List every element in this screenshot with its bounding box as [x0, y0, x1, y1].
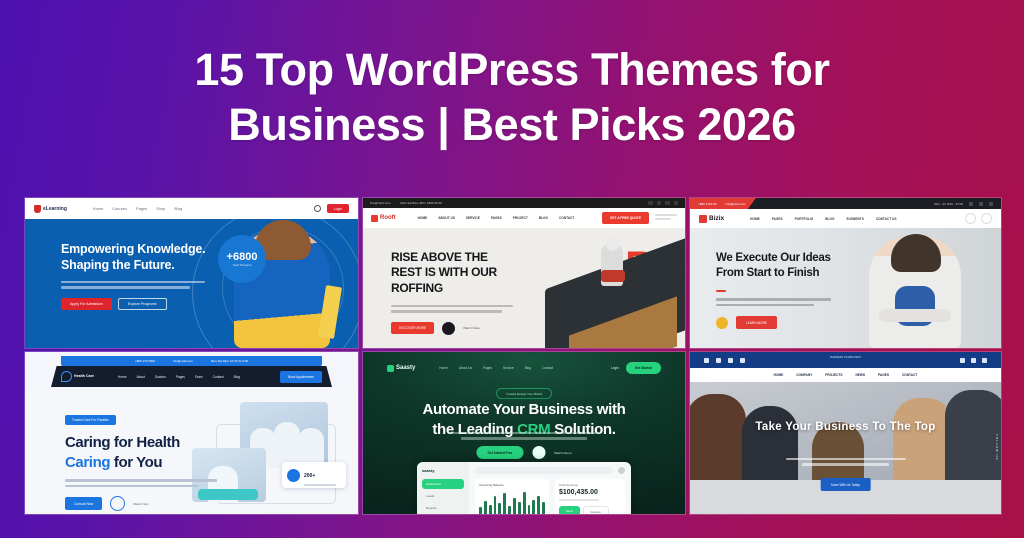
rooft-topbar: info@rooft.com Mon-Sat 8Am-6Pm 1800 00 0…	[363, 198, 685, 208]
elearning-logo[interactable]: eLearning	[34, 205, 67, 213]
healthcare-phone[interactable]: +880 170 0000	[135, 359, 155, 363]
search-icon[interactable]	[314, 205, 321, 212]
chart-bars	[479, 490, 545, 514]
facebook-icon[interactable]	[648, 201, 653, 206]
explore-button[interactable]: Explore Programs	[118, 298, 167, 310]
nav-item-home[interactable]: Home	[439, 366, 448, 370]
corporate-headline: Take Your Business To The Top	[690, 420, 1001, 435]
worker-toolbelt-shape	[601, 270, 625, 282]
headline-accent: Caring	[65, 454, 110, 471]
nav-item-pages[interactable]: PAGES	[772, 217, 783, 221]
bizix-logo[interactable]: Bizix	[699, 215, 724, 223]
healthcare-topbar: +880 170 0000 info@mail.com Mon-Sat 8Am …	[61, 356, 322, 366]
saasty-dashboard-preview[interactable]: saasty Dashboard Leads Reports Operating…	[417, 462, 631, 514]
saasty-badge: Trusted Design Your Brand	[496, 388, 552, 399]
menu-icon[interactable]	[981, 213, 992, 224]
login-button[interactable]: Login	[327, 204, 349, 213]
saasty-logo-text: Saasty	[396, 365, 415, 371]
bizix-nav[interactable]: HOME PAGES PORTFOLIO BLOG ELEMENTS CONTA…	[750, 217, 896, 221]
dashboard-logo: saasty	[422, 468, 464, 473]
corporate-brand-sub: BUSINESS CONSULTANT	[830, 356, 861, 359]
avatar[interactable]	[618, 467, 625, 474]
apply-button[interactable]: Apply For Admission	[61, 298, 112, 310]
accent-bar	[716, 290, 726, 293]
healthcare-subtext	[65, 479, 225, 487]
elearning-hero-text: Empowering Knowledge. Shaping the Future…	[61, 241, 211, 310]
nav-item-contact[interactable]: CONTACT US	[876, 217, 897, 221]
bizix-topbar-right: Mon - Fri 8:00 - 17:00	[934, 202, 993, 206]
poster-title: 15 Top WordPress Themes for Business | B…	[0, 22, 1024, 174]
elearning-hero: +6800 Total Students Empowering Knowledg…	[25, 219, 358, 348]
headline-line-1: Automate Your Business with	[422, 401, 625, 418]
bizix-logo-text: Bizix	[709, 215, 724, 222]
headline-line-1: Caring for Health	[65, 434, 180, 451]
phone-block	[655, 214, 677, 222]
nav-item-home[interactable]: HOME	[418, 216, 428, 220]
bizix-hero-text: We Execute Our Ideas From Start to Finis…	[716, 251, 836, 329]
rooft-hero: Roo RISE ABOVE THE REST IS WITH OUR ROFF…	[363, 228, 685, 348]
healthcare-hero: 200+ Trusted Care For Families Caring fo…	[25, 390, 358, 514]
nav-item-blog[interactable]: BLOG	[539, 216, 548, 220]
elearning-cta-row[interactable]: Apply For Admission Explore Programs	[61, 298, 211, 310]
theme-thumbnail-bizix[interactable]: +880 1700 00 info@bizix.com Mon - Fri 8:…	[690, 198, 1001, 348]
cart-icon[interactable]	[971, 358, 976, 363]
nav-item-pages[interactable]: PAGES	[491, 216, 502, 220]
dashboard-sidebar[interactable]: saasty Dashboard Leads Reports	[417, 462, 469, 514]
twitter-icon[interactable]	[657, 201, 662, 206]
rooft-logo[interactable]: Rooft	[371, 215, 396, 222]
doctors-stat-card: 200+	[282, 462, 346, 488]
corporate-subtext	[786, 458, 906, 469]
rooft-hero-text: RISE ABOVE THE REST IS WITH OUR ROFFING …	[391, 250, 517, 335]
healthcare-headline: Caring for Health Caring for You	[65, 433, 225, 472]
nav-item-blog[interactable]: Blog	[175, 207, 183, 211]
nav-item-contact[interactable]: CONTACT	[902, 373, 917, 377]
businesswoman-arms-shape	[879, 309, 951, 322]
nav-item-pages[interactable]: Pages	[136, 207, 147, 211]
facebook-icon[interactable]	[704, 358, 709, 363]
quote-button[interactable]: GET A FREE QUOTE	[602, 212, 649, 224]
badge-icon	[716, 317, 728, 329]
saasty-cta-row[interactable]: Get Started Free Watch Demo	[476, 446, 571, 459]
dashboard-topbar[interactable]	[475, 467, 625, 474]
nav-item-service[interactable]: SERVICE	[466, 216, 480, 220]
corporate-hero: Take Your Business To The Top More With …	[690, 382, 1001, 514]
corporate-topbar: BUSINESS CONSULTANT	[690, 352, 1001, 368]
saasty-nav-right[interactable]: Login Get Started	[611, 362, 661, 374]
healthcare-pill-badge: Trusted Care For Families	[65, 415, 116, 425]
nav-item-home[interactable]: Home	[118, 375, 127, 379]
bizix-headline: We Execute Our Ideas From Start to Finis…	[716, 251, 836, 281]
elearning-nav-right[interactable]: Login	[314, 204, 349, 213]
rooft-navbar[interactable]: Rooft HOME ABOUT US SERVICE PAGES PROJEC…	[363, 208, 685, 228]
dashboard-chart: Operating Balance	[475, 479, 549, 514]
doctor-avatar	[287, 469, 300, 482]
theme-thumbnail-healthcare[interactable]: +880 170 0000 info@mail.com Mon-Sat 8Am …	[25, 352, 358, 514]
dashboard-main: Operating Balance Total Earnings	[469, 462, 631, 514]
rooft-nav-right[interactable]: GET A FREE QUOTE	[602, 212, 677, 224]
social-icons[interactable]	[704, 358, 745, 363]
nav-item-portfolio[interactable]: PORTFOLIO	[795, 217, 814, 221]
students-badge-label: Total Students	[232, 263, 251, 267]
pulse-icon	[61, 371, 72, 382]
get-started-button[interactable]: Get Started	[626, 362, 661, 374]
more-with-us-button[interactable]: More With Us Today	[820, 478, 871, 491]
bizix-topbar-left: +880 1700 00 info@bizix.com	[690, 198, 756, 209]
nav-item-pages[interactable]: Pages	[483, 366, 492, 370]
theme-thumbnail-saasty[interactable]: Saasty Home About Us Pages Service Blog …	[363, 352, 685, 514]
theme-thumbnail-rooft[interactable]: info@rooft.com Mon-Sat 8Am-6Pm 1800 00 0…	[363, 198, 685, 348]
students-badge-value: +6800	[227, 251, 258, 263]
healthcare-nav[interactable]: Home About Doctors Pages Team Contact Bl…	[118, 375, 240, 379]
twitter-icon[interactable]	[979, 202, 983, 206]
nav-item-project[interactable]: PROJECT	[513, 216, 528, 220]
watch-demo-label[interactable]: Watch Demo	[554, 451, 571, 455]
shield-icon	[34, 205, 41, 213]
bizix-hero: We Execute Our Ideas From Start to Finis…	[690, 228, 1001, 348]
worker-helmet-shape	[606, 238, 619, 251]
send-button[interactable]: Send	[559, 506, 580, 514]
dashboard-body: Operating Balance Total Earnings	[475, 479, 625, 514]
rooft-headline: RISE ABOVE THE REST IS WITH OUR ROFFING	[391, 250, 517, 296]
play-icon[interactable]	[110, 496, 125, 511]
rooft-subtext	[391, 305, 517, 313]
play-icon[interactable]	[442, 322, 455, 335]
nav-item-team[interactable]: Team	[195, 375, 203, 379]
consult-button[interactable]: Consult Now	[65, 497, 102, 510]
nav-item-contact[interactable]: CONTACT	[559, 216, 574, 220]
nav-item-home[interactable]: Home	[93, 207, 103, 211]
healthcare-hours: Mon-Sat 8Am 10:00 To 6:00	[211, 359, 248, 363]
elearning-subtext	[61, 281, 211, 289]
saasty-subtext	[449, 432, 599, 443]
nav-item-shop[interactable]: Shop	[156, 207, 165, 211]
nav-item-blog[interactable]: Blog	[234, 375, 240, 379]
bizix-cta-row[interactable]: LEARN MORE	[716, 316, 836, 329]
nav-item-company[interactable]: COMPANY	[796, 373, 812, 377]
healthcare-logo[interactable]: Health Care	[61, 371, 94, 382]
sidebar-item-reports[interactable]: Reports	[422, 503, 464, 513]
saasty-mark-icon	[387, 365, 394, 372]
rooft-email[interactable]: info@rooft.com	[370, 201, 390, 205]
nav-item-doctors[interactable]: Doctors	[155, 375, 166, 379]
linkedin-icon[interactable]	[674, 201, 679, 206]
chart-title: Operating Balance	[479, 483, 545, 487]
corporate-logo[interactable]: BUSINESS CONSULTANT	[830, 355, 861, 359]
watch-video-label[interactable]: Watch Video	[463, 326, 480, 330]
earnings-card-note	[559, 499, 599, 501]
elearning-nav[interactable]: Home Courses Pages Shop Blog	[93, 207, 183, 211]
instagram-icon[interactable]	[728, 358, 733, 363]
theme-thumbnail-grid: eLearning Home Courses Pages Shop Blog L…	[25, 198, 999, 514]
bizix-phone[interactable]: +880 1700 00	[698, 202, 716, 206]
healthcare-logo-text: Health Care	[74, 375, 94, 379]
elearning-navbar[interactable]: eLearning Home Courses Pages Shop Blog L…	[25, 198, 358, 219]
bizix-mark-icon	[699, 215, 707, 223]
healthcare-cta-row[interactable]: Consult Now Watch Now	[65, 496, 225, 511]
nav-item-about[interactable]: About Us	[459, 366, 472, 370]
nav-item-courses[interactable]: Courses	[112, 207, 127, 211]
discover-button[interactable]: DISCOVER MORE	[391, 322, 434, 334]
healthcare-hero-text: Trusted Care For Families Caring for Hea…	[65, 408, 225, 511]
saasty-nav[interactable]: Home About Us Pages Service Blog Contact	[439, 366, 553, 370]
dashboard-search-input[interactable]	[475, 467, 613, 474]
poster-canvas: 15 Top WordPress Themes for Business | B…	[0, 0, 1024, 538]
corporate-topbar-right[interactable]	[960, 358, 987, 363]
menu-icon[interactable]	[982, 358, 987, 363]
earnings-card-value: $100,435.00	[559, 489, 621, 496]
search-icon[interactable]	[965, 213, 976, 224]
nav-item-about[interactable]: ABOUT US	[438, 216, 455, 220]
twitter-icon[interactable]	[716, 358, 721, 363]
corporate-navbar[interactable]: HOME COMPANY PROJECTS NEWS PAGES CONTACT	[690, 368, 1001, 382]
bizix-subtext	[716, 298, 836, 306]
get-started-free-button[interactable]: Get Started Free	[476, 446, 523, 459]
nav-item-contact[interactable]: Contact	[542, 366, 553, 370]
saasty-hero: Saasty Home About Us Pages Service Blog …	[363, 352, 685, 514]
nav-item-service[interactable]: Service	[503, 366, 514, 370]
nav-item-projects[interactable]: PROJECTS	[825, 373, 842, 377]
follow-us-label: FOLLOW US	[995, 434, 999, 461]
bizix-nav-right[interactable]	[965, 213, 992, 224]
book-appointment-button[interactable]: Book Appointment	[280, 371, 322, 383]
elearning-headline: Empowering Knowledge. Shaping the Future…	[61, 241, 211, 274]
rooft-nav[interactable]: HOME ABOUT US SERVICE PAGES PROJECT BLOG…	[418, 216, 575, 220]
title-line-2: Business | Best Picks 2026	[228, 98, 796, 153]
sidebar-item-dashboard[interactable]: Dashboard	[422, 479, 464, 489]
theme-thumbnail-elearning[interactable]: eLearning Home Courses Pages Shop Blog L…	[25, 198, 358, 348]
students-badge: +6800 Total Students	[218, 235, 266, 283]
bizix-topbar: +880 1700 00 info@bizix.com Mon - Fri 8:…	[690, 198, 1001, 209]
nav-item-blog[interactable]: BLOG	[825, 217, 834, 221]
linkedin-icon[interactable]	[989, 202, 993, 206]
headline-line-2: for You	[110, 454, 162, 471]
earnings-card-buttons[interactable]: Send Receive	[559, 506, 621, 514]
facebook-icon[interactable]	[969, 202, 973, 206]
title-line-1: 15 Top WordPress Themes for	[194, 43, 829, 98]
healthcare-email[interactable]: info@mail.com	[173, 359, 193, 363]
social-icons[interactable]	[648, 201, 678, 206]
learn-more-button[interactable]: LEARN MORE	[736, 316, 777, 329]
saasty-logo[interactable]: Saasty	[387, 365, 415, 372]
healthcare-navbar[interactable]: Health Care Home About Doctors Pages Tea…	[51, 366, 332, 387]
earnings-card-title: Total Earnings	[559, 483, 621, 487]
receive-button[interactable]: Receive	[583, 506, 609, 514]
nav-item-news[interactable]: NEWS	[855, 373, 865, 377]
play-icon[interactable]	[532, 446, 545, 459]
watch-now-label[interactable]: Watch Now	[133, 502, 148, 506]
theme-thumbnail-corporate[interactable]: BUSINESS CONSULTANT HOME COMPANY PROJECT…	[690, 352, 1001, 514]
nav-item-pages[interactable]: Pages	[176, 375, 185, 379]
saasty-navbar[interactable]: Saasty Home About Us Pages Service Blog …	[387, 360, 661, 376]
doctors-stat-value: 200+	[304, 473, 315, 479]
rooft-cta-row[interactable]: DISCOVER MORE Watch Video	[391, 322, 517, 335]
nav-item-about[interactable]: About	[137, 375, 145, 379]
rooft-logo-text: Rooft	[380, 215, 396, 221]
bizix-hours: Mon - Fri 8:00 - 17:00	[934, 202, 963, 206]
nav-item-home[interactable]: HOME	[750, 217, 760, 221]
elearning-logo-text: eLearning	[43, 206, 67, 212]
bizix-navbar[interactable]: Bizix HOME PAGES PORTFOLIO BLOG ELEMENTS…	[690, 209, 1001, 228]
search-icon[interactable]	[960, 358, 965, 363]
login-link[interactable]: Login	[611, 366, 619, 370]
instagram-icon[interactable]	[665, 201, 670, 206]
nav-item-blog[interactable]: Blog	[525, 366, 531, 370]
roof-icon	[371, 215, 378, 222]
dashboard-earnings-card: Total Earnings $100,435.00 Send Receive	[555, 479, 625, 514]
sidebar-item-leads[interactable]: Leads	[422, 491, 464, 501]
rooft-hours: Mon-Sat 8Am-6Pm 1800 00 00	[400, 201, 441, 205]
nav-item-contact[interactable]: Contact	[213, 375, 224, 379]
nav-item-home[interactable]: HOME	[774, 373, 784, 377]
nav-item-pages[interactable]: PAGES	[878, 373, 889, 377]
linkedin-icon[interactable]	[740, 358, 745, 363]
nav-item-elements[interactable]: ELEMENTS	[846, 217, 863, 221]
bizix-email[interactable]: info@bizix.com	[725, 202, 745, 206]
